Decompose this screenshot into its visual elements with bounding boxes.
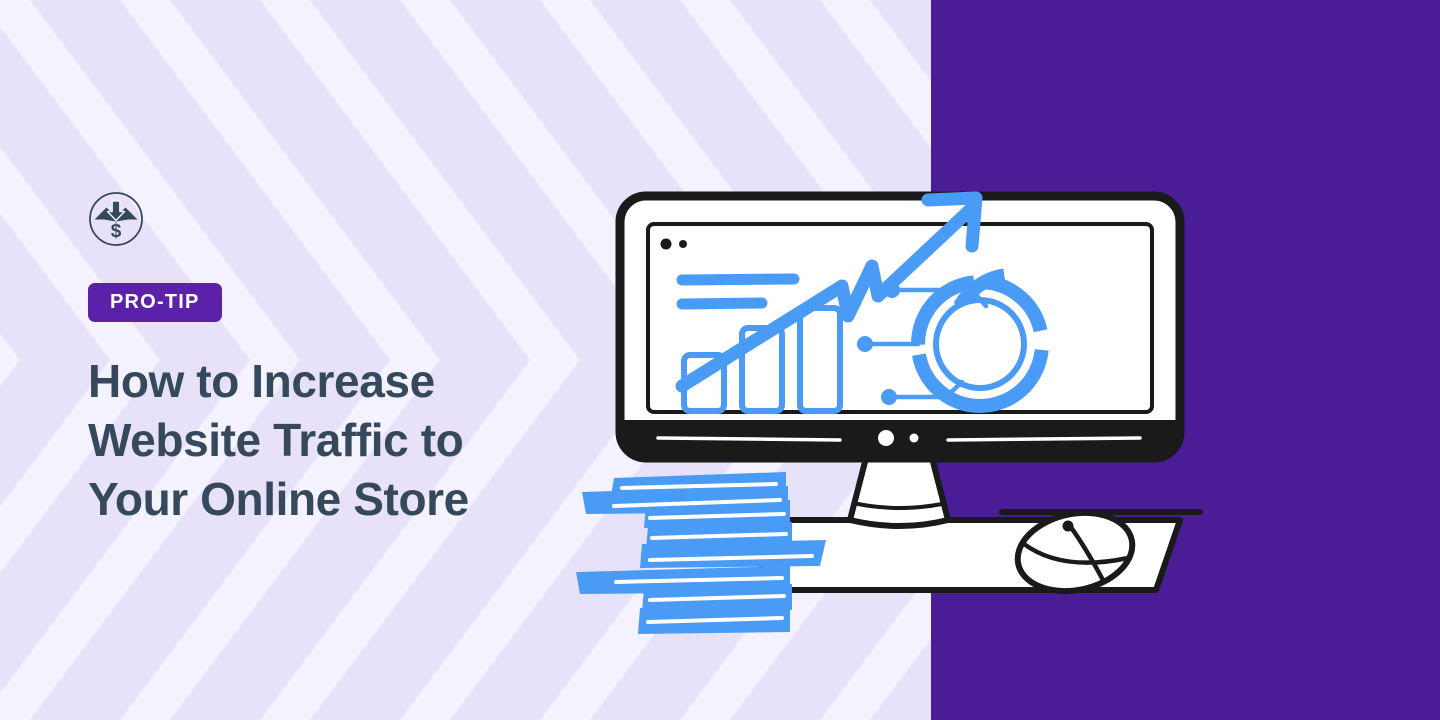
window-dot-2 bbox=[679, 240, 687, 248]
window-dot-1 bbox=[661, 239, 672, 250]
brand-logo-icon: $ bbox=[88, 191, 144, 247]
bar-3 bbox=[800, 308, 840, 411]
donut-node-bottom bbox=[881, 389, 897, 405]
paper-stack bbox=[576, 472, 826, 634]
hero-illustration bbox=[600, 120, 1240, 640]
page-title: How to Increase Website Traffic to Your … bbox=[88, 352, 508, 530]
bezel-dot-large bbox=[878, 430, 894, 446]
pro-tip-badge: PRO-TIP bbox=[88, 283, 222, 322]
left-content-column: $ PRO-TIP How to Increase Website Traffi… bbox=[88, 0, 608, 720]
donut-node-mid bbox=[857, 336, 873, 352]
svg-text:$: $ bbox=[111, 221, 122, 242]
bezel-dot-small bbox=[910, 434, 919, 443]
monitor-stand bbox=[850, 458, 948, 526]
blog-banner: $ PRO-TIP How to Increase Website Traffi… bbox=[0, 0, 1440, 720]
